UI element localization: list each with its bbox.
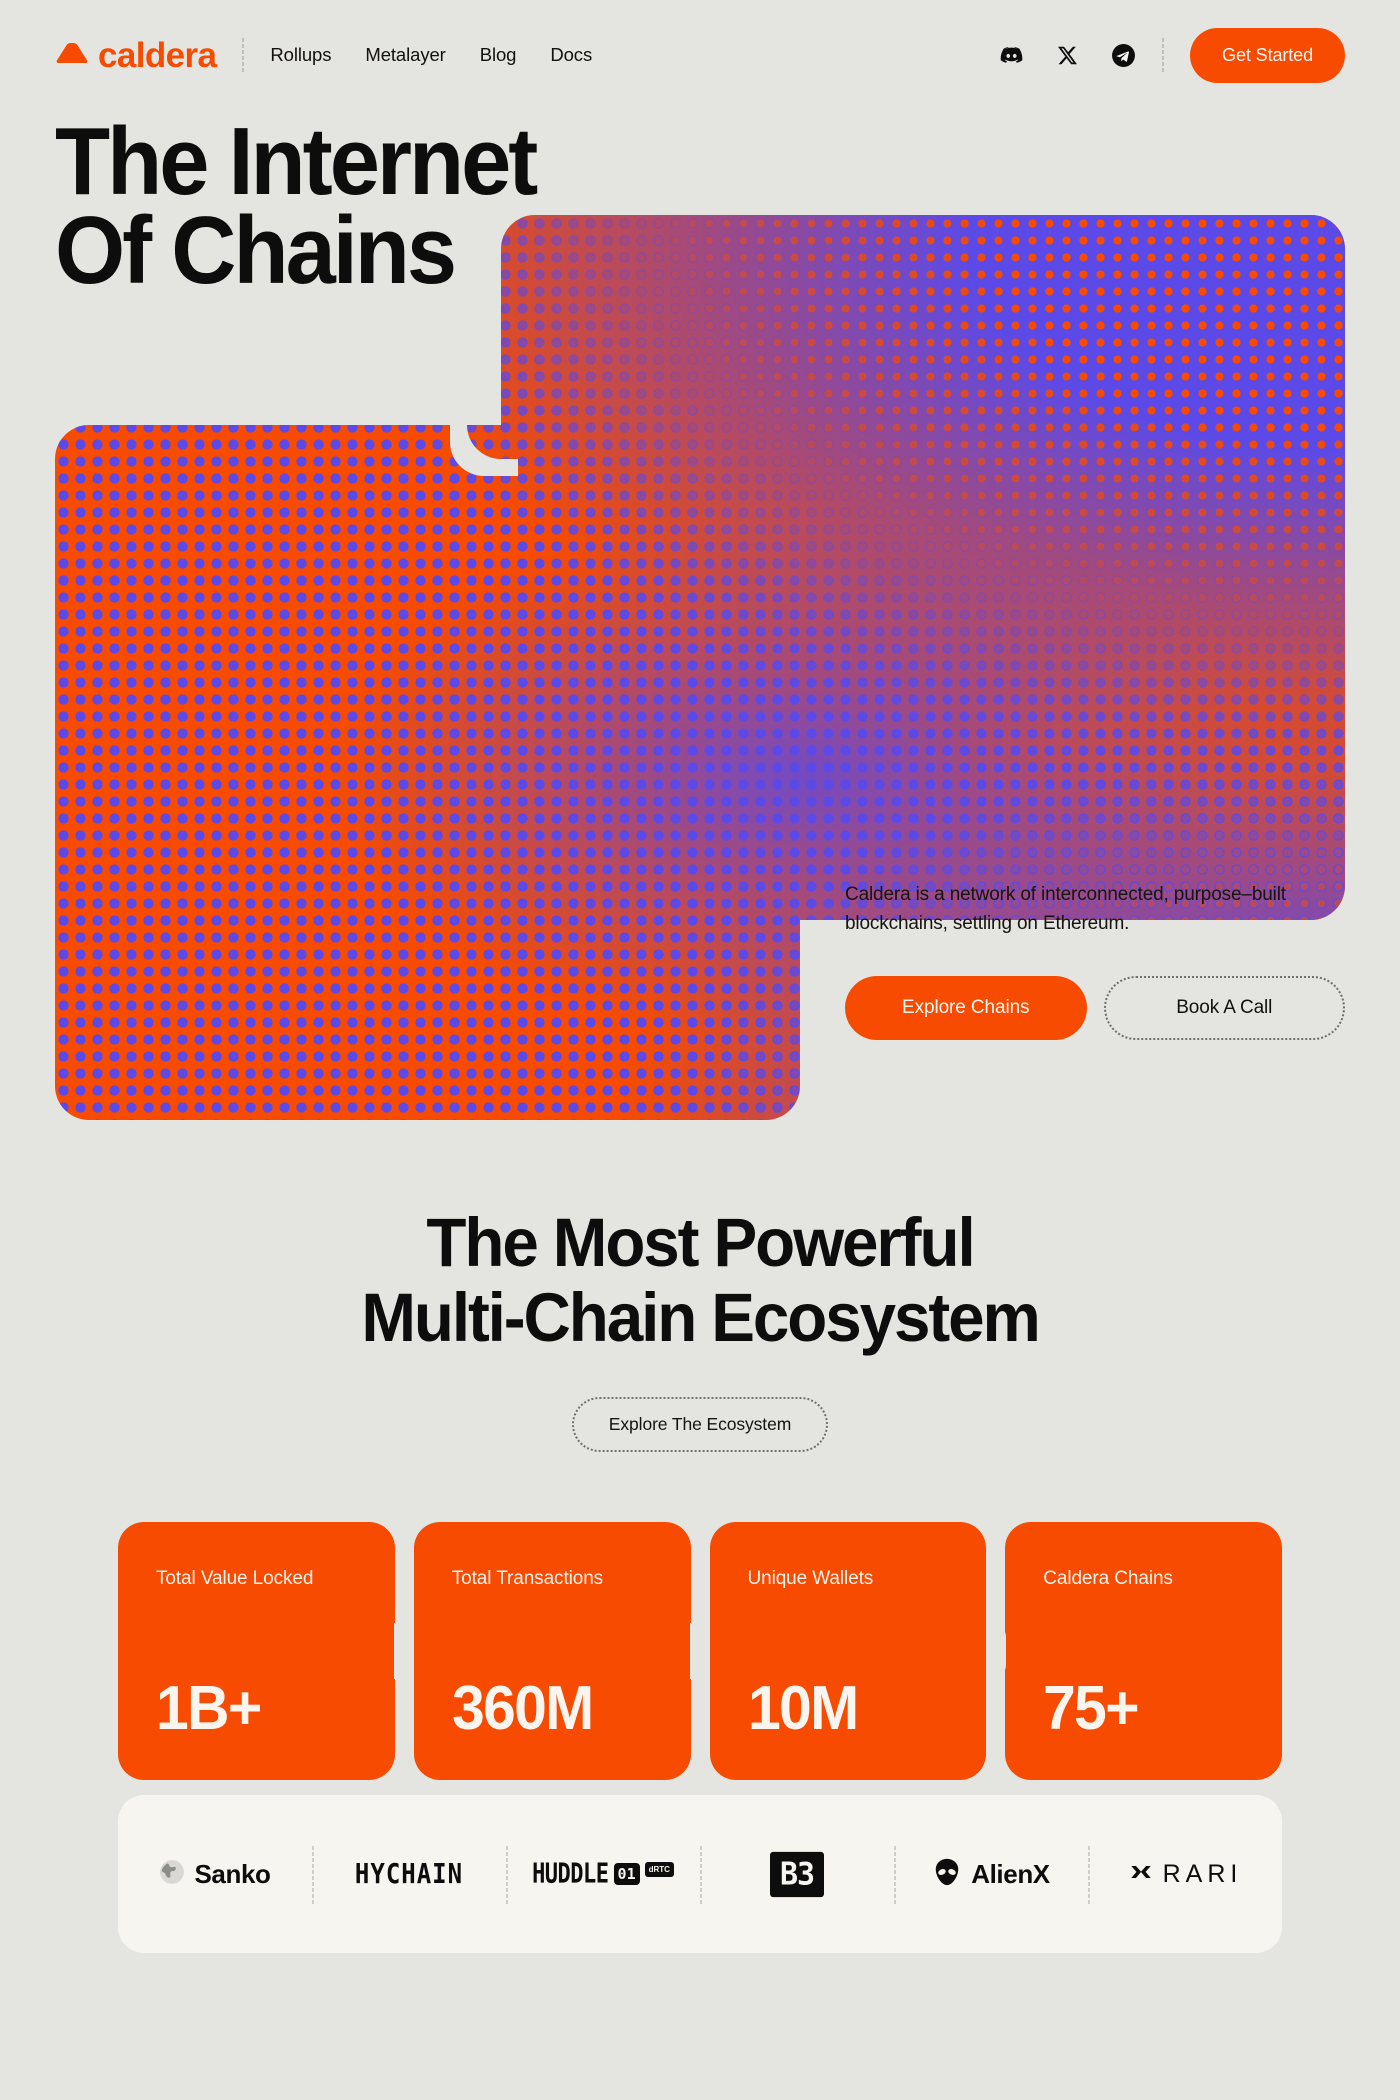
- hero-description: Caldera is a network of interconnected, …: [845, 881, 1315, 939]
- ecosystem-title: The Most Powerful Multi-Chain Ecosystem: [35, 1206, 1365, 1355]
- partner-logo-huddle01[interactable]: HUDDLE 01 dRTC: [506, 1795, 700, 1953]
- globe-icon: [159, 1859, 185, 1890]
- partner-logo-hychain[interactable]: HYCHAIN: [312, 1795, 506, 1953]
- rari-x-icon: [1128, 1859, 1154, 1890]
- hero-cta-group: Explore Chains Book A Call: [845, 976, 1345, 1040]
- stat-label: Total Transactions: [452, 1568, 653, 1590]
- partner-name: HYCHAIN: [355, 1858, 463, 1890]
- huddle-badge: 01: [614, 1863, 640, 1885]
- caldera-volcano-mark: [55, 43, 89, 68]
- get-started-button[interactable]: Get Started: [1190, 28, 1345, 83]
- partner-name: HUDDLE: [532, 1858, 608, 1889]
- partner-logo-sanko[interactable]: Sanko: [118, 1795, 312, 1953]
- header-divider-left: [242, 37, 244, 73]
- stat-value: 1B+: [156, 1678, 347, 1740]
- alien-head-icon: [932, 1857, 962, 1892]
- stat-card-unique-wallets: Unique Wallets 10M: [710, 1522, 987, 1780]
- brand-logo[interactable]: caldera: [55, 38, 216, 73]
- partner-logo-b3[interactable]: B3: [700, 1795, 894, 1953]
- nav-item-rollups[interactable]: Rollups: [270, 44, 331, 66]
- partner-name: RARI: [1163, 1860, 1243, 1889]
- explore-chains-button[interactable]: Explore Chains: [845, 976, 1087, 1040]
- stat-card-total-transactions: Total Transactions 360M: [414, 1522, 691, 1780]
- partner-logo-strip: Sanko HYCHAIN HUDDLE 01 dRTC B3 AlienX: [118, 1795, 1282, 1953]
- partner-logo-alienx[interactable]: AlienX: [894, 1795, 1088, 1953]
- book-a-call-button[interactable]: Book A Call: [1104, 976, 1346, 1040]
- huddle-drtc-badge: dRTC: [645, 1862, 674, 1877]
- stat-card-total-value-locked: Total Value Locked 1B+: [118, 1522, 395, 1780]
- stat-value: 10M: [748, 1678, 939, 1740]
- hero-copy: Caldera is a network of interconnected, …: [845, 881, 1345, 1040]
- nav-item-metalayer[interactable]: Metalayer: [365, 44, 445, 66]
- stat-card-caldera-chains: Caldera Chains 75+: [1005, 1522, 1282, 1780]
- stat-value: 360M: [452, 1678, 643, 1740]
- site-header: caldera Rollups Metalayer Blog Docs: [0, 0, 1400, 110]
- hero-section: The Internet Of Chains: [0, 110, 1400, 1040]
- telegram-icon[interactable]: [1111, 43, 1136, 68]
- nav-item-blog[interactable]: Blog: [480, 44, 517, 66]
- header-divider-right: [1162, 37, 1164, 73]
- partner-name: B3: [770, 1851, 824, 1896]
- nav-item-docs[interactable]: Docs: [550, 44, 592, 66]
- partner-name: AlienX: [971, 1859, 1050, 1890]
- partner-name: Sanko: [194, 1859, 270, 1890]
- hero-title: The Internet Of Chains: [55, 117, 535, 296]
- primary-nav: Rollups Metalayer Blog Docs: [270, 44, 592, 66]
- x-twitter-icon[interactable]: [1055, 43, 1080, 68]
- stat-label: Unique Wallets: [748, 1568, 949, 1590]
- explore-ecosystem-button[interactable]: Explore The Ecosystem: [572, 1397, 828, 1452]
- social-links: [999, 43, 1136, 68]
- brand-wordmark: caldera: [98, 38, 216, 73]
- stat-label: Caldera Chains: [1043, 1568, 1244, 1590]
- stat-label: Total Value Locked: [156, 1568, 357, 1590]
- header-actions: Get Started: [999, 28, 1345, 83]
- discord-icon[interactable]: [999, 43, 1024, 68]
- partner-logo-rari[interactable]: RARI: [1088, 1795, 1282, 1953]
- stats-row: Total Value Locked 1B+ Total Transaction…: [0, 1522, 1400, 1780]
- stat-value: 75+: [1043, 1678, 1234, 1740]
- ecosystem-section: The Most Powerful Multi-Chain Ecosystem …: [0, 1206, 1400, 1452]
